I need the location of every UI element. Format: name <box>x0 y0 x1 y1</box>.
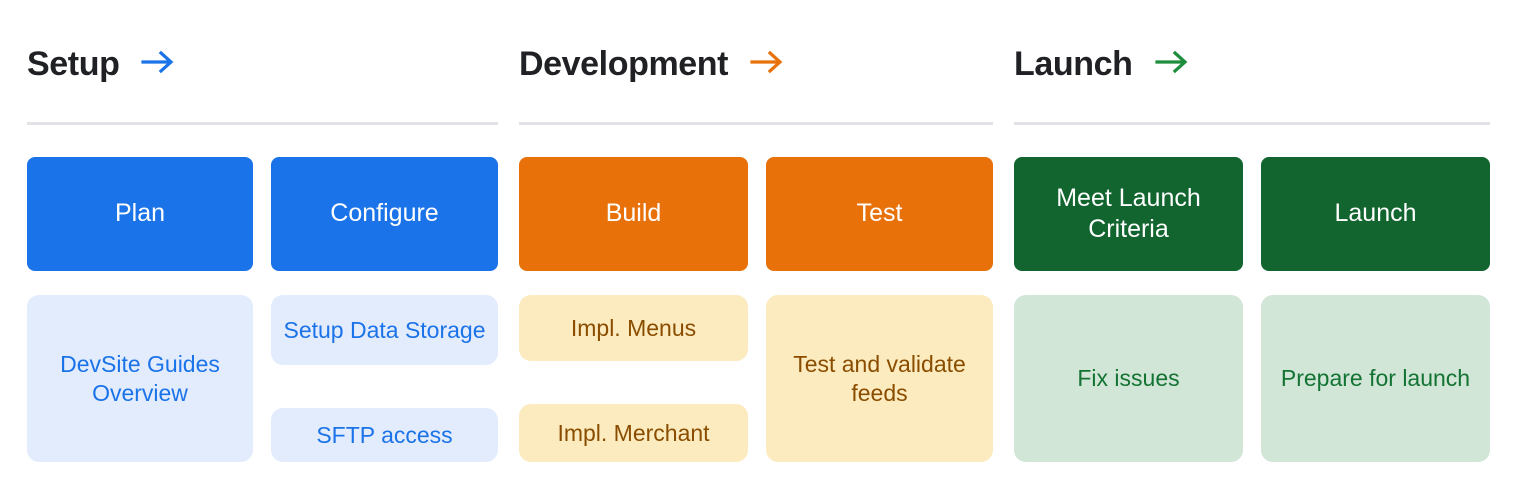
column-development: Development Build Test Impl. Menus Impl.… <box>519 0 993 484</box>
card-impl-menus[interactable]: Impl. Menus <box>519 295 748 361</box>
card-plan[interactable]: Plan <box>27 157 253 271</box>
main-cards-launch: Meet Launch Criteria Launch <box>1014 157 1490 271</box>
column-header-launch: Launch <box>1014 38 1189 90</box>
main-cards-development: Build Test <box>519 157 993 271</box>
page-title: Development <box>519 45 728 84</box>
card-test[interactable]: Test <box>766 157 993 271</box>
card-sftp-access[interactable]: SFTP access <box>271 408 498 462</box>
arrow-right-icon <box>141 48 175 81</box>
column-header-setup: Setup <box>27 38 175 90</box>
card-prepare-for-launch[interactable]: Prepare for launch <box>1261 295 1490 462</box>
card-devsite-guides-overview[interactable]: DevSite Guides Overview <box>27 295 253 462</box>
column-divider <box>1014 122 1490 125</box>
sub-cards-development: Impl. Menus Impl. Merchant Test and vali… <box>519 295 993 462</box>
page-title: Launch <box>1014 45 1133 84</box>
card-impl-merchant[interactable]: Impl. Merchant <box>519 404 748 462</box>
column-header-development: Development <box>519 38 784 90</box>
arrow-right-icon <box>750 48 784 81</box>
arrow-right-icon <box>1155 48 1189 81</box>
sub-group-plan: DevSite Guides Overview <box>27 295 253 462</box>
card-meet-launch-criteria[interactable]: Meet Launch Criteria <box>1014 157 1243 271</box>
sub-cards-setup: DevSite Guides Overview Setup Data Stora… <box>27 295 498 462</box>
card-test-and-validate-feeds[interactable]: Test and validate feeds <box>766 295 993 462</box>
phase-board: Setup Plan Configure DevSite Guides Over… <box>0 0 1518 484</box>
card-setup-data-storage[interactable]: Setup Data Storage <box>271 295 498 365</box>
page-title: Setup <box>27 45 119 84</box>
column-setup: Setup Plan Configure DevSite Guides Over… <box>27 0 498 484</box>
sub-group-configure: Setup Data Storage SFTP access <box>271 295 498 462</box>
card-configure[interactable]: Configure <box>271 157 498 271</box>
column-launch: Launch Meet Launch Criteria Launch Fix i… <box>1014 0 1490 484</box>
card-build[interactable]: Build <box>519 157 748 271</box>
card-launch[interactable]: Launch <box>1261 157 1490 271</box>
sub-group-test: Test and validate feeds <box>766 295 993 462</box>
column-divider <box>27 122 498 125</box>
column-divider <box>519 122 993 125</box>
sub-group-launch: Prepare for launch <box>1261 295 1490 462</box>
card-fix-issues[interactable]: Fix issues <box>1014 295 1243 462</box>
sub-group-build: Impl. Menus Impl. Merchant <box>519 295 748 462</box>
sub-cards-launch: Fix issues Prepare for launch <box>1014 295 1490 462</box>
sub-group-meet-launch-criteria: Fix issues <box>1014 295 1243 462</box>
main-cards-setup: Plan Configure <box>27 157 498 271</box>
